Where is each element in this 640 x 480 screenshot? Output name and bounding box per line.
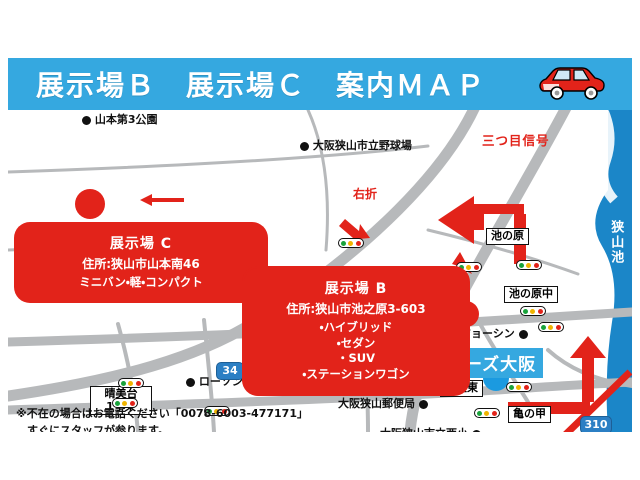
label-ikenohara-naka: 池の原中 bbox=[504, 286, 558, 303]
hall-c-items: ミニバン・軽・コンパクト bbox=[22, 275, 260, 291]
poi-dot-icon bbox=[472, 430, 481, 433]
poi-dot-icon bbox=[300, 142, 309, 151]
location-map: 山本第3公園 大阪狭山市立野球場 右折 三つ目信号 池の原 池の原中 狭山池 ジ… bbox=[8, 110, 632, 432]
route-shield-34: 34 bbox=[216, 362, 244, 380]
traffic-signal-icon bbox=[338, 238, 364, 248]
traffic-signal-icon bbox=[506, 382, 532, 392]
notes-block: ※不在の場合はお電話ください「0078-6003-477171」 すぐにスタッフ… bbox=[16, 406, 306, 432]
label-lake-sayamaike: 狭山池 bbox=[608, 220, 622, 265]
poi-park: 山本第3公園 bbox=[82, 114, 158, 126]
label-turn-right: 右折 bbox=[353, 188, 377, 201]
hall-b-item: ・ハイブリッド bbox=[250, 320, 462, 336]
callout-hall-b: 展示場 B 住所:狭山市池之原3-603 ・ハイブリッド ・セダン ・SUV ・… bbox=[244, 268, 468, 394]
traffic-signal-icon bbox=[520, 306, 546, 316]
hall-c-address: 住所:狭山市山本南46 bbox=[22, 255, 260, 272]
hall-b-item: ・SUV bbox=[250, 351, 462, 367]
label-third-signal: 三つ目信号 bbox=[482, 134, 550, 147]
poi-dot-icon bbox=[419, 400, 428, 409]
hall-b-item: ・セダン bbox=[250, 336, 462, 352]
notes-line-1: ※不在の場合はお電話ください「0078-6003-477171」 bbox=[16, 406, 306, 423]
hall-c-title: 展示場 C bbox=[22, 233, 260, 253]
bottom-margin bbox=[0, 432, 640, 480]
top-margin bbox=[0, 0, 640, 58]
poi-post-office: 大阪狭山郵便局 bbox=[338, 398, 428, 410]
red-car-icon bbox=[538, 64, 610, 104]
poi-joshin: ジョーシン bbox=[460, 328, 528, 340]
header-banner: 展示場Ｂ 展示場Ｃ 案内ＭＡＰ bbox=[8, 58, 632, 110]
poi-dot-icon bbox=[519, 330, 528, 339]
label-ikenohara: 池の原 bbox=[486, 228, 529, 245]
traffic-signal-icon bbox=[118, 378, 144, 388]
callout-hall-c: 展示場 C 住所:狭山市山本南46 ミニバン・軽・コンパクト bbox=[16, 224, 266, 301]
flyer-body: 展示場Ｂ 展示場Ｃ 案内ＭＡＰ bbox=[0, 58, 640, 432]
traffic-signal-icon bbox=[538, 322, 564, 332]
poi-dot-icon bbox=[186, 378, 195, 387]
poi-dot-icon bbox=[82, 116, 91, 125]
route-shield-310: 310 bbox=[580, 416, 612, 432]
traffic-signal-icon bbox=[516, 260, 542, 270]
hall-b-address: 住所:狭山市池之原3-603 bbox=[250, 300, 462, 317]
poi-baseball-stadium: 大阪狭山市立野球場 bbox=[300, 140, 412, 152]
notes-line-2: すぐにスタッフが参ります。 bbox=[16, 423, 306, 433]
page-title: 展示場Ｂ 展示場Ｃ 案内ＭＡＰ bbox=[36, 64, 486, 104]
hall-c-marker bbox=[75, 189, 105, 219]
poi-nishi-elementary: 大阪狭山市立西小 bbox=[380, 428, 481, 432]
flyer-screenshot: 展示場Ｂ 展示場Ｃ 案内ＭＡＰ bbox=[0, 0, 640, 480]
hall-b-title: 展示場 B bbox=[250, 278, 462, 298]
traffic-signal-icon bbox=[474, 408, 500, 418]
hall-b-item: ・ステーションワゴン bbox=[250, 367, 462, 383]
label-kamenoko: 亀の甲 bbox=[508, 406, 551, 423]
